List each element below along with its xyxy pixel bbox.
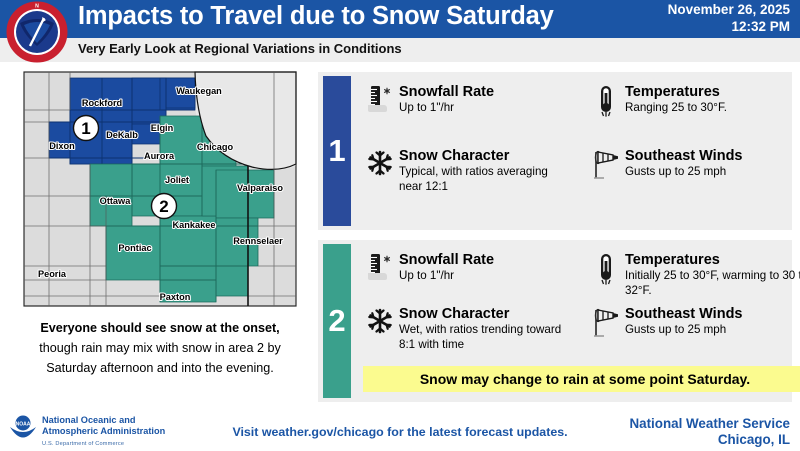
item-title: Southeast Winds (625, 306, 743, 323)
item-title: Snowfall Rate (399, 84, 494, 101)
map-caption-line-1: Everyone should see snow at the onset, (8, 318, 312, 338)
zone-2-snowfall-rate-text: Snowfall Rate Up to 1"/hr (397, 252, 494, 284)
thermometer-icon (589, 84, 623, 117)
city-label: Elgin (151, 123, 174, 133)
city-label: Ottawa (100, 196, 132, 206)
header-bar: Impacts to Travel due to Snow Saturday N… (0, 0, 800, 38)
subheader-bar: Very Early Look at Regional Variations i… (0, 38, 800, 62)
svg-text:N: N (35, 4, 39, 10)
zone-1-snowfall-rate: Snowfall Rate Up to 1"/hr (363, 84, 563, 116)
item-title: Temperatures (625, 84, 727, 101)
item-desc: Initially 25 to 30°F, warming to 30 to 3… (625, 269, 800, 298)
item-desc: Typical, with ratios averaging near 12:1 (399, 165, 563, 194)
zone-2-alert-banner: Snow may change to rain at some point Sa… (363, 366, 800, 392)
footer-bar: NOAA National Oceanic and Atmospheric Ad… (0, 406, 800, 451)
zone-1-snowfall-rate-text: Snowfall Rate Up to 1"/hr (397, 84, 494, 116)
zone-badge-label: 2 (159, 197, 168, 216)
zone-1-winds: Southeast Winds Gusts up to 25 mph (589, 148, 800, 181)
item-desc: Ranging 25 to 30°F. (625, 101, 727, 116)
snow-depth-ruler-icon (363, 252, 397, 283)
office-name: National Weather Service (629, 416, 790, 432)
header-time: 12:32 PM (668, 19, 790, 36)
subtitle: Very Early Look at Regional Variations i… (78, 41, 402, 56)
zone-2-temperatures: Temperatures Initially 25 to 30°F, warmi… (589, 252, 800, 298)
zone-1-temperatures: Temperatures Ranging 25 to 30°F. (589, 84, 800, 117)
zone-1-temperatures-text: Temperatures Ranging 25 to 30°F. (623, 84, 727, 116)
zone-1-panel: 1 Snowfall Rate Up (318, 72, 792, 230)
zone-2-body: Snowfall Rate Up to 1"/hr Temperatures I… (351, 240, 792, 402)
city-label: Peoria (38, 269, 67, 279)
map-caption-line-3: Saturday afternoon and into the evening. (8, 358, 312, 378)
item-desc: Gusts up to 25 mph (625, 323, 743, 338)
map-caption-line-2: though rain may mix with snow in area 2 … (8, 338, 312, 358)
office-location: Chicago, IL (629, 432, 790, 448)
city-label: Joliet (165, 175, 189, 185)
page-title: Impacts to Travel due to Snow Saturday (78, 2, 554, 31)
map-caption: Everyone should see snow at the onset, t… (8, 318, 312, 378)
footer-office: National Weather Service Chicago, IL (629, 416, 790, 448)
zone-2-winds-text: Southeast Winds Gusts up to 25 mph (623, 306, 743, 338)
city-label: Dixon (49, 141, 75, 151)
map-zone-badge-2[interactable]: 2 (152, 194, 177, 219)
item-desc: Wet, with ratios trending toward 8:1 wit… (399, 323, 563, 352)
zone-2-number: 2 (323, 244, 351, 398)
zone-1-winds-text: Southeast Winds Gusts up to 25 mph (623, 148, 743, 180)
city-label: DeKalb (106, 130, 138, 140)
snow-depth-ruler-icon (363, 84, 397, 115)
windsock-icon (589, 148, 623, 181)
zone-2-winds: Southeast Winds Gusts up to 25 mph (589, 306, 800, 339)
header-date: November 26, 2025 (668, 2, 790, 19)
zone-2-snow-character: Snow Character Wet, with ratios trending… (363, 306, 563, 352)
item-title: Snowfall Rate (399, 252, 494, 269)
item-desc: Up to 1"/hr (399, 101, 494, 116)
zone-1-number: 1 (323, 76, 351, 226)
city-label: Chicago (197, 142, 234, 152)
zone-1-snow-character-text: Snow Character Typical, with ratios aver… (397, 148, 563, 194)
item-desc: Up to 1"/hr (399, 269, 494, 284)
snowflake-icon (363, 148, 397, 177)
city-label: Waukegan (176, 86, 222, 96)
item-desc: Gusts up to 25 mph (625, 165, 743, 180)
zone-badge-label: 1 (81, 119, 90, 138)
zone-2-panel: 2 Snowfall Rate Up (318, 240, 792, 402)
forecast-zone-map[interactable]: Rockford Waukegan Elgin DeKalb Dixon Chi… (12, 66, 308, 312)
nws-seal-icon: N (6, 1, 68, 63)
item-title: Temperatures (625, 252, 800, 269)
zone-2-snow-character-text: Snow Character Wet, with ratios trending… (397, 306, 563, 352)
city-label: Aurora (144, 151, 175, 161)
city-label: Rennselaer (233, 236, 283, 246)
header-datetime: November 26, 2025 12:32 PM (668, 2, 790, 35)
city-label: Rockford (82, 98, 122, 108)
thermometer-icon (589, 252, 623, 285)
zone-1-snow-character: Snow Character Typical, with ratios aver… (363, 148, 563, 194)
map-zone-badge-1[interactable]: 1 (74, 116, 99, 141)
item-title: Snow Character (399, 306, 563, 323)
windsock-icon (589, 306, 623, 339)
zone-2-snowfall-rate: Snowfall Rate Up to 1"/hr (363, 252, 563, 284)
snowflake-icon (363, 306, 397, 335)
zone-1-body: Snowfall Rate Up to 1"/hr Temperatures R… (351, 72, 792, 230)
item-title: Southeast Winds (625, 148, 743, 165)
city-label: Kankakee (173, 220, 216, 230)
map-graphic[interactable]: Rockford Waukegan Elgin DeKalb Dixon Chi… (12, 66, 308, 312)
city-label: Valparaiso (237, 183, 283, 193)
city-label: Pontiac (118, 243, 151, 253)
city-label: Paxton (160, 292, 191, 302)
zone-2-temperatures-text: Temperatures Initially 25 to 30°F, warmi… (623, 252, 800, 298)
item-title: Snow Character (399, 148, 563, 165)
